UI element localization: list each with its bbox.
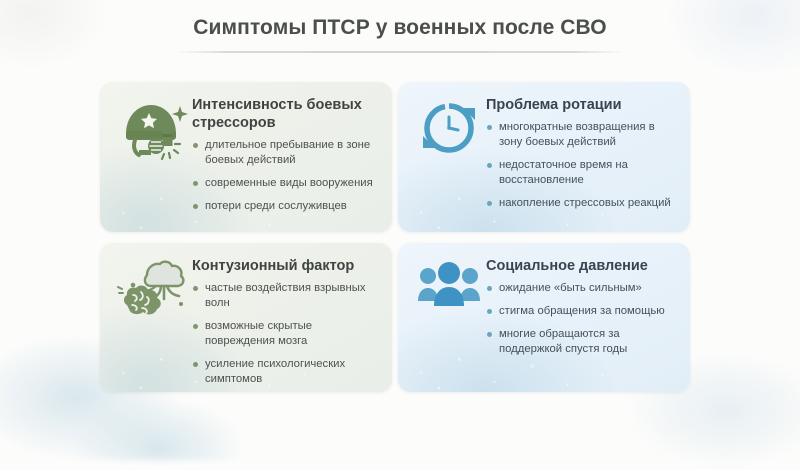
people-group-icon: [414, 261, 484, 321]
list-item: потери среди сослуживцев: [192, 199, 380, 214]
card-heading: Интенсивность боевых стрессоров: [192, 96, 380, 132]
military-helmet-icon: [116, 98, 190, 168]
card-social-pressure[interactable]: Социальное давление ожидание «быть сильн…: [398, 243, 690, 392]
list-item: современные виды вооружения: [192, 176, 380, 191]
list-item: усиление психологических симптомов: [192, 357, 380, 387]
list-item: частые воздействия взрывных волн: [192, 281, 380, 311]
card-content: Проблема ротации многократные возвращени…: [484, 94, 678, 211]
cards-grid: Интенсивность боевых стрессоров длительн…: [100, 82, 700, 392]
card-bullet-list: длительное пребывание в зоне боевых дейс…: [192, 138, 380, 214]
card-heading: Контузионный фактор: [192, 257, 380, 275]
card-combat-stressors[interactable]: Интенсивность боевых стрессоров длительн…: [100, 82, 392, 232]
card-content: Социальное давление ожидание «быть сильн…: [484, 255, 678, 357]
brain-blast-icon: [116, 259, 190, 329]
card-rotation-problem[interactable]: Проблема ротации многократные возвращени…: [398, 82, 690, 232]
card-bullet-list: частые воздействия взрывных волн возможн…: [192, 281, 380, 387]
clock-rotation-icon: [414, 100, 484, 160]
card-heading: Проблема ротации: [486, 96, 678, 114]
card-content: Контузионный фактор частые воздействия в…: [190, 255, 380, 387]
page-header: Симптомы ПТСР у военных после СВО: [0, 14, 800, 53]
list-item: многие обращаются за поддержкой спустя г…: [486, 327, 678, 357]
card-concussion-factor[interactable]: Контузионный фактор частые воздействия в…: [100, 243, 392, 392]
list-item: накопление стрессовых реакций: [486, 196, 678, 211]
card-heading: Социальное давление: [486, 257, 678, 275]
list-item: недостаточное время на восстановление: [486, 158, 678, 188]
list-item: стигма обращения за помощью: [486, 304, 678, 319]
title-divider: [176, 51, 624, 53]
card-content: Интенсивность боевых стрессоров длительн…: [190, 94, 380, 214]
page-title: Симптомы ПТСР у военных после СВО: [0, 14, 800, 42]
list-item: длительное пребывание в зоне боевых дейс…: [192, 138, 380, 168]
list-item: возможные скрытые повреждения мозга: [192, 319, 380, 349]
list-item: ожидание «быть сильным»: [486, 281, 678, 296]
card-bullet-list: ожидание «быть сильным» стигма обращения…: [486, 281, 678, 357]
card-bullet-list: многократные возвращения в зону боевых д…: [486, 120, 678, 211]
list-item: многократные возвращения в зону боевых д…: [486, 120, 678, 150]
